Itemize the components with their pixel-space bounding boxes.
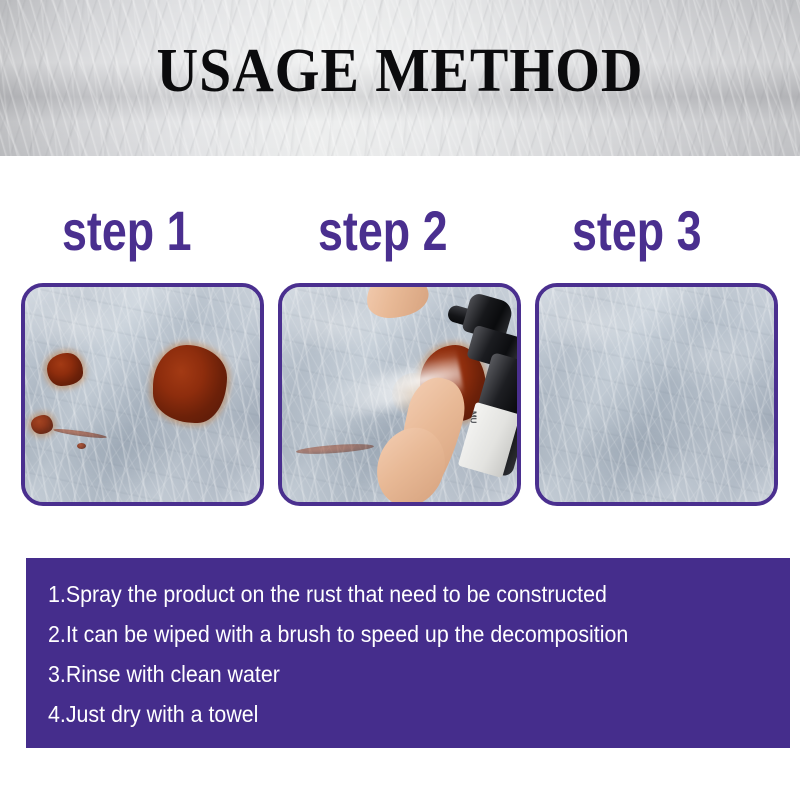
spray-bottle: MU: [432, 283, 521, 491]
step-label-1: step 1: [62, 198, 191, 264]
metal-plate-scratches-fine: [21, 283, 264, 506]
step-photo-2: MU: [278, 283, 521, 506]
page-title: USAGE METHOD: [28, 38, 772, 104]
step-label-row: step 1 step 2 step 3: [0, 198, 800, 272]
instruction-line-1: 1.Spray the product on the rust that nee…: [48, 580, 607, 608]
instruction-line-2: 2.It can be wiped with a brush to speed …: [48, 620, 628, 648]
finger-top: [362, 283, 432, 323]
bottle-label-text: MU: [468, 411, 479, 423]
instructions-panel: 1.Spray the product on the rust that nee…: [26, 558, 790, 748]
step-label-3: step 3: [572, 198, 701, 264]
step-photo-3: [535, 283, 778, 506]
step-label-2: step 2: [318, 198, 447, 264]
step-photo-row: MU: [0, 283, 800, 508]
metal-plate-scratches-fine: [535, 283, 778, 506]
instruction-line-3: 3.Rinse with clean water: [48, 660, 280, 688]
instruction-line-4: 4.Just dry with a towel: [48, 700, 258, 728]
step-photo-1: [21, 283, 264, 506]
rust-patch-small: [31, 415, 53, 434]
rust-speck: [77, 443, 86, 449]
rust-patch-medium: [47, 353, 83, 386]
header-banner: USAGE METHOD: [0, 0, 800, 156]
rust-patch-large: [153, 345, 227, 423]
